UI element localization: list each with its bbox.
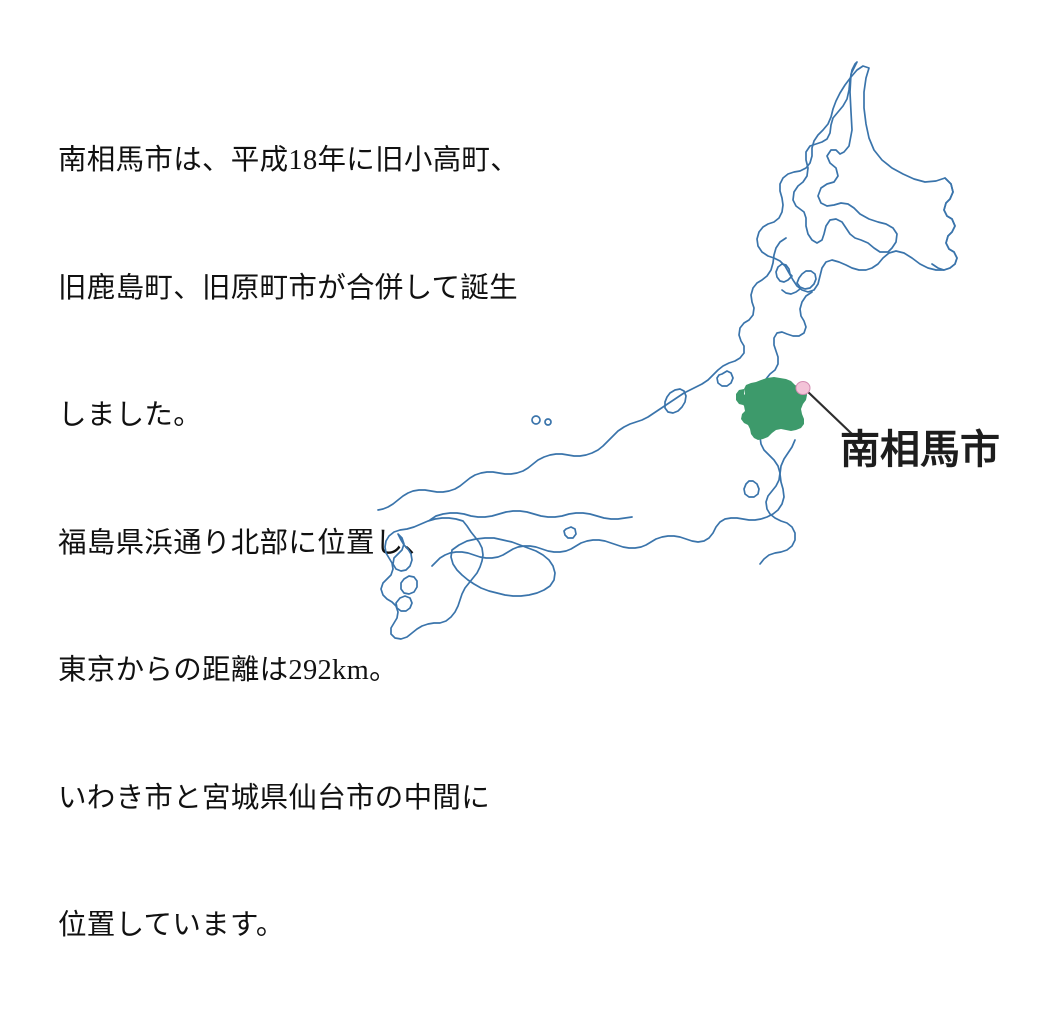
oshima-islet-icon <box>532 416 540 424</box>
nagasaki-coast-outline <box>393 534 412 571</box>
aomori-tsugaru-outline <box>776 264 792 282</box>
minamisoma-city-marker[interactable] <box>796 382 810 395</box>
japan-map-svg <box>0 0 1040 646</box>
city-label: 南相馬市 <box>840 428 1000 472</box>
description-line-7: 位置しています。 <box>58 905 618 948</box>
hokkaido-outline <box>793 62 897 252</box>
izu-peninsula-outline <box>744 481 759 497</box>
sado-island-outline <box>717 371 733 386</box>
shimokita-peninsula-outline <box>797 271 816 289</box>
page-root: 南相馬市は、平成18年に旧小高町、 旧鹿島町、旧原町市が合併して誕生 しました。… <box>0 0 1040 646</box>
japan-map: 南相馬市 <box>0 0 1040 646</box>
niijima-islet-icon <box>545 419 551 425</box>
amakusa-islands-outline <box>396 596 412 611</box>
description-line-6: いわき市と宮城県仙台市の中間に <box>58 778 618 821</box>
tohoku-west-coast-outline <box>378 238 786 510</box>
noto-peninsula-outline <box>665 389 686 413</box>
description-line-5: 東京からの距離は292km。 <box>58 650 618 693</box>
chugoku-outline <box>430 511 632 520</box>
mutsu-bay-outline <box>782 289 800 294</box>
fukushima-west-notch-shape <box>736 389 745 405</box>
kyushu-outline <box>381 518 483 639</box>
hokkaido-main-outline <box>757 66 957 292</box>
honshu-pacific-coast-outline <box>432 440 795 566</box>
awaji-island-outline <box>564 527 576 538</box>
shimabara-peninsula-outline <box>401 576 417 594</box>
